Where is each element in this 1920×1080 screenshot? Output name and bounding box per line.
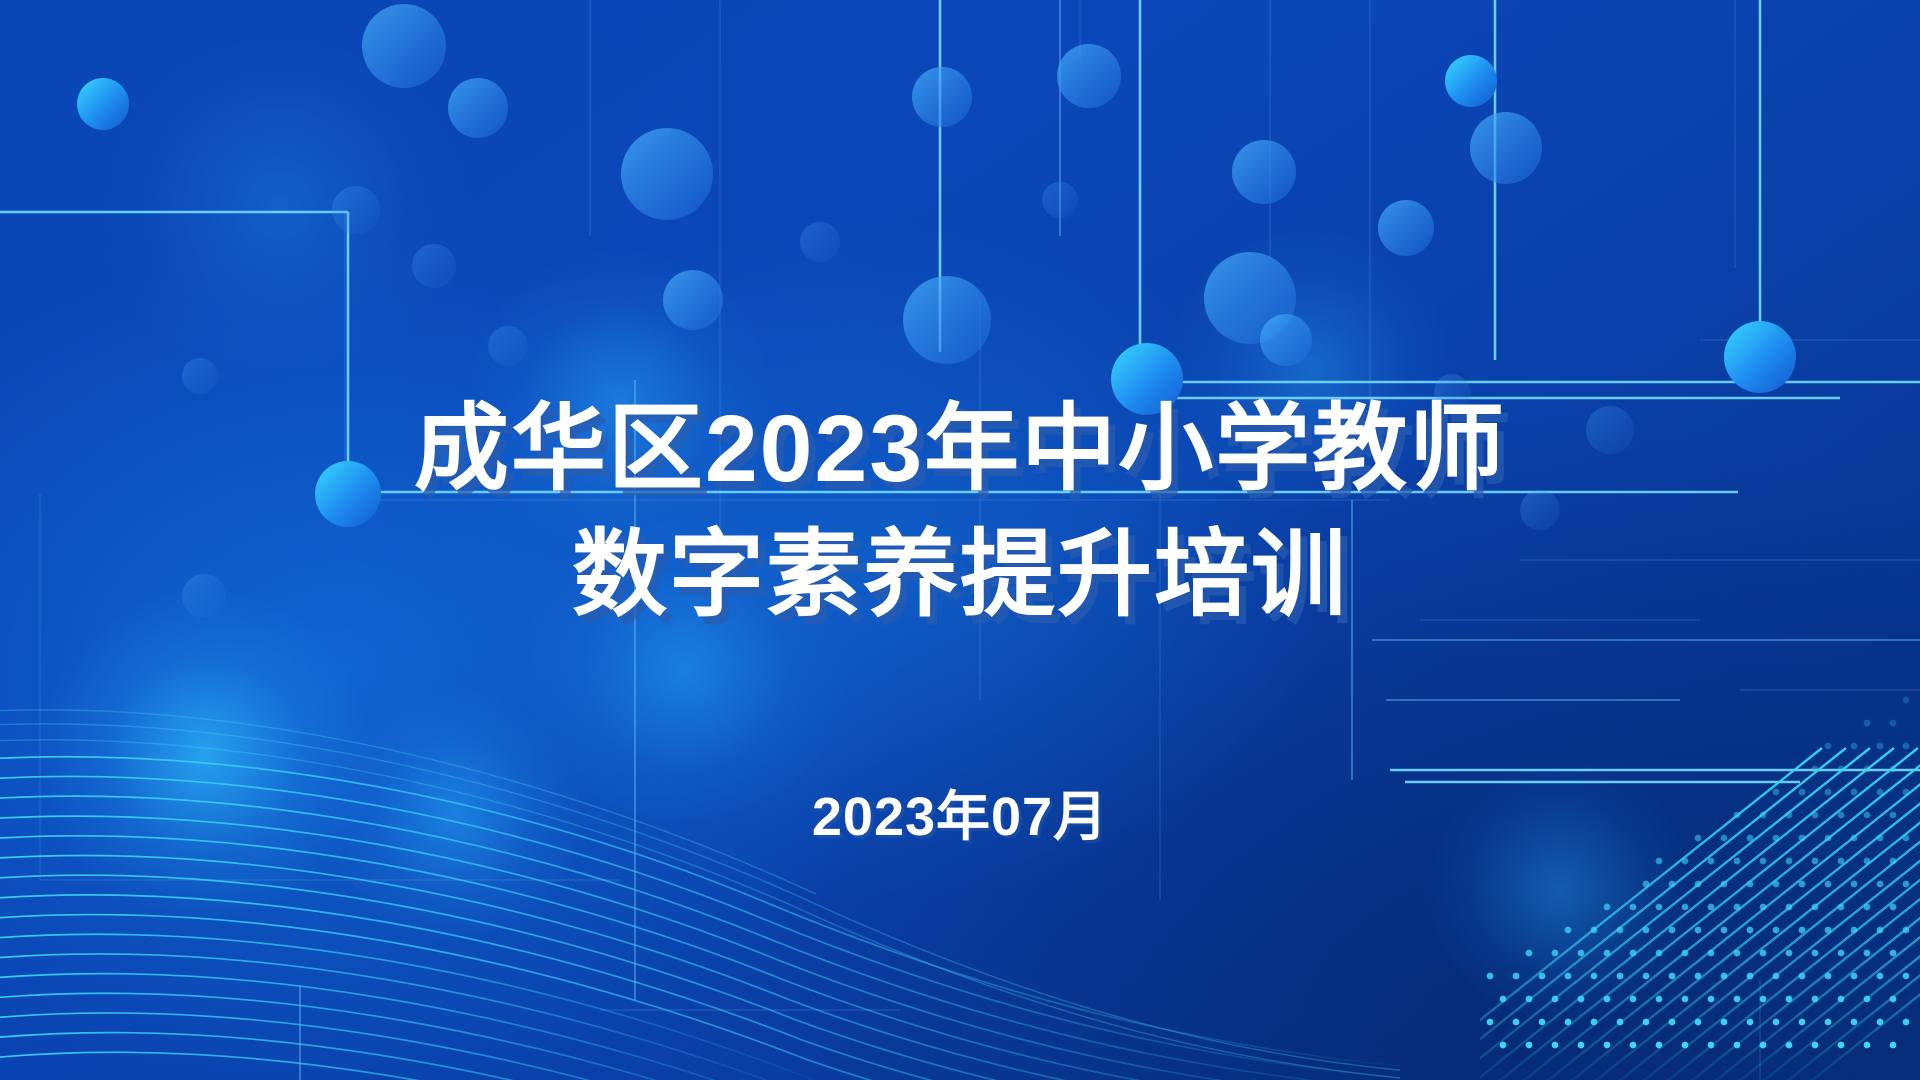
- dot: [1708, 858, 1715, 865]
- title-line-2: 数字素养提升培训: [0, 512, 1920, 638]
- dot: [1487, 973, 1494, 980]
- dot: [1617, 1019, 1624, 1026]
- dot: [1604, 904, 1611, 911]
- dot: [1851, 1019, 1858, 1026]
- slide-date: 2023年07月: [0, 772, 1920, 851]
- dot: [1721, 1019, 1728, 1026]
- dot: [1669, 973, 1676, 980]
- dot: [1773, 927, 1780, 934]
- dot: [1838, 1042, 1845, 1049]
- dot: [1552, 1042, 1559, 1049]
- dot: [1682, 858, 1689, 865]
- circuit-node: [1724, 321, 1796, 393]
- dot: [1604, 1042, 1611, 1049]
- dot: [1669, 1019, 1676, 1026]
- dot: [1565, 973, 1572, 980]
- dot: [1838, 904, 1845, 911]
- dot: [1734, 950, 1741, 957]
- dot: [1747, 973, 1754, 980]
- dot: [1682, 1042, 1689, 1049]
- dot: [1825, 1019, 1832, 1026]
- dot: [1812, 950, 1819, 957]
- dot: [1695, 1019, 1702, 1026]
- circuit-node: [1445, 55, 1497, 107]
- dot: [1630, 950, 1637, 957]
- dot: [1747, 881, 1754, 888]
- dot: [1786, 1042, 1793, 1049]
- dot: [1721, 973, 1728, 980]
- dot: [1695, 973, 1702, 980]
- circuit-node: [488, 326, 528, 366]
- dot: [1864, 904, 1871, 911]
- circuit-node: [362, 4, 446, 88]
- circuit-node: [663, 270, 723, 330]
- dot: [1851, 973, 1858, 980]
- dot: [1617, 973, 1624, 980]
- dot: [1760, 950, 1767, 957]
- dot: [1591, 973, 1598, 980]
- dot: [1643, 1019, 1650, 1026]
- title-line-1: 成华区2023年中小学教师: [0, 386, 1920, 512]
- dot: [1760, 858, 1767, 865]
- dot: [1734, 1042, 1741, 1049]
- dot: [1799, 927, 1806, 934]
- dot: [1864, 950, 1871, 957]
- dot: [1903, 927, 1910, 934]
- dot: [1617, 927, 1624, 934]
- dot: [1812, 904, 1819, 911]
- dot: [1877, 927, 1884, 934]
- dot: [1812, 858, 1819, 865]
- dot: [1513, 1019, 1520, 1026]
- dot: [1799, 973, 1806, 980]
- dot: [1630, 904, 1637, 911]
- circuit-node: [621, 128, 713, 220]
- dot: [1526, 1042, 1533, 1049]
- dot: [1604, 950, 1611, 957]
- dot: [1565, 927, 1572, 934]
- dot: [1890, 904, 1897, 911]
- dot: [1812, 996, 1819, 1003]
- circuit-node: [912, 67, 972, 127]
- dot: [1851, 743, 1858, 750]
- dot: [1838, 950, 1845, 957]
- circuit-node: [1470, 112, 1542, 184]
- dot: [1682, 950, 1689, 957]
- dot: [1656, 950, 1663, 957]
- circuit-node: [800, 222, 840, 262]
- dot: [1747, 927, 1754, 934]
- dot: [1656, 996, 1663, 1003]
- dot: [1656, 904, 1663, 911]
- dot: [1825, 973, 1832, 980]
- circuit-node-soft-group: [362, 4, 1542, 366]
- dot: [1578, 1042, 1585, 1049]
- dot: [1903, 743, 1910, 750]
- dot: [1786, 858, 1793, 865]
- circuit-node: [903, 276, 991, 364]
- dot: [1526, 950, 1533, 957]
- dot: [1513, 973, 1520, 980]
- dot: [1591, 1019, 1598, 1026]
- dot: [1578, 950, 1585, 957]
- dot: [1864, 858, 1871, 865]
- dot: [1877, 1019, 1884, 1026]
- dot: [1838, 996, 1845, 1003]
- dot: [1773, 973, 1780, 980]
- dot: [1760, 996, 1767, 1003]
- dot: [1890, 996, 1897, 1003]
- dot: [1500, 996, 1507, 1003]
- dot: [1539, 973, 1546, 980]
- dot: [1708, 1042, 1715, 1049]
- dot: [1721, 927, 1728, 934]
- dot: [1786, 950, 1793, 957]
- dot: [1734, 904, 1741, 911]
- dot: [1890, 720, 1897, 727]
- circuit-node: [1378, 200, 1434, 256]
- presentation-cover-slide: 成华区2023年中小学教师 数字素养提升培训 2023年07月: [0, 0, 1920, 1080]
- dot: [1760, 904, 1767, 911]
- dot: [1708, 950, 1715, 957]
- dot: [1864, 996, 1871, 1003]
- dot: [1682, 904, 1689, 911]
- dot: [1838, 858, 1845, 865]
- dot: [1552, 950, 1559, 957]
- dot: [1500, 1042, 1507, 1049]
- dot: [1591, 927, 1598, 934]
- dot: [1656, 1042, 1663, 1049]
- dot: [1903, 1019, 1910, 1026]
- dot: [1877, 881, 1884, 888]
- dot: [1890, 950, 1897, 957]
- circuit-node: [448, 78, 508, 138]
- dot: [1539, 1019, 1546, 1026]
- circuit-node: [332, 186, 380, 234]
- dot: [1851, 881, 1858, 888]
- dot: [1890, 858, 1897, 865]
- dot: [1877, 743, 1884, 750]
- dot: [1903, 697, 1910, 704]
- slide-title-block: 成华区2023年中小学教师 数字素养提升培训: [0, 386, 1920, 638]
- circuit-node: [412, 244, 456, 288]
- circuit-node: [77, 78, 129, 130]
- dot: [1786, 904, 1793, 911]
- dot: [1825, 927, 1832, 934]
- dot: [1851, 927, 1858, 934]
- dot: [1747, 1019, 1754, 1026]
- dot: [1695, 881, 1702, 888]
- dot: [1890, 1042, 1897, 1049]
- circuit-node: [1232, 140, 1296, 204]
- dot: [1903, 973, 1910, 980]
- dot: [1734, 858, 1741, 865]
- dot: [1799, 1019, 1806, 1026]
- dot: [1630, 996, 1637, 1003]
- dot: [1643, 973, 1650, 980]
- dot: [1682, 996, 1689, 1003]
- dot: [1721, 881, 1728, 888]
- dot: [1643, 927, 1650, 934]
- dot: [1786, 996, 1793, 1003]
- dot: [1812, 1042, 1819, 1049]
- dot: [1734, 996, 1741, 1003]
- dot: [1565, 1019, 1572, 1026]
- dot: [1578, 996, 1585, 1003]
- dot: [1773, 1019, 1780, 1026]
- dot: [1825, 881, 1832, 888]
- circuit-node: [1042, 182, 1078, 218]
- dot: [1708, 904, 1715, 911]
- dot: [1643, 881, 1650, 888]
- dot: [1877, 973, 1884, 980]
- dot: [1656, 858, 1663, 865]
- dot: [1760, 1042, 1767, 1049]
- dot: [1864, 720, 1871, 727]
- dot: [1669, 881, 1676, 888]
- dot: [1526, 996, 1533, 1003]
- dot: [1799, 881, 1806, 888]
- dot: [1604, 996, 1611, 1003]
- dot: [1630, 1042, 1637, 1049]
- dot: [1903, 881, 1910, 888]
- dot: [1708, 996, 1715, 1003]
- dot: [1552, 996, 1559, 1003]
- dot: [1695, 927, 1702, 934]
- dot: [1864, 1042, 1871, 1049]
- dot: [1669, 927, 1676, 934]
- dot: [1825, 743, 1832, 750]
- dot: [1773, 881, 1780, 888]
- dot: [1487, 1019, 1494, 1026]
- circuit-node: [1057, 44, 1121, 108]
- circuit-node: [1260, 314, 1312, 366]
